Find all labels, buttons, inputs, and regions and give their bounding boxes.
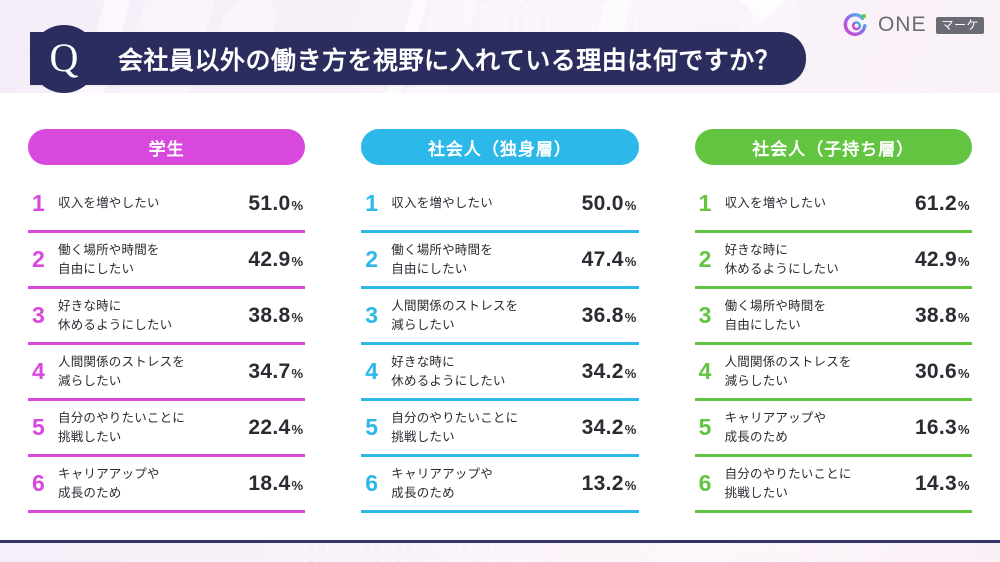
percent-sign: % <box>291 254 303 269</box>
percentage-value: 30.6% <box>915 360 970 384</box>
rank-number: 4 <box>699 360 725 383</box>
page-title: 会社員以外の働き方を視野に入れている理由は何ですか？ <box>118 41 780 77</box>
ranking-row: 2働く場所や時間を自由にしたい42.9% <box>28 233 305 289</box>
rank-number: 1 <box>32 192 58 215</box>
percent-sign: % <box>291 310 303 325</box>
ranking-row: 3働く場所や時間を自由にしたい38.8% <box>695 289 972 345</box>
question-mark-badge: Q <box>30 25 98 93</box>
percentage-number: 16.3 <box>915 416 957 439</box>
percentage-value: 34.2% <box>582 360 637 384</box>
percentage-number: 34.7 <box>248 360 290 383</box>
reason-label: キャリアアップや成長のため <box>391 465 581 501</box>
reason-label: 人間関係のストレスを減らしたい <box>58 353 248 389</box>
percentage-value: 13.2% <box>582 472 637 496</box>
ranking-row: 4好きな時に休めるようにしたい34.2% <box>361 345 638 401</box>
ranking-list: 1収入を増やしたい51.0%2働く場所や時間を自由にしたい42.9%3好きな時に… <box>28 177 305 513</box>
ranking-row: 2働く場所や時間を自由にしたい47.4% <box>361 233 638 289</box>
ranking-row: 6キャリアアップや成長のため18.4% <box>28 457 305 513</box>
percentage-number: 38.8 <box>248 304 290 327</box>
background-chevron-icon <box>740 0 784 22</box>
percent-sign: % <box>291 478 303 493</box>
percent-sign: % <box>625 254 637 269</box>
infographic-slide: ONE マーケ 会社員以外の働き方を視野に入れている理由は何ですか？ Q 学生1… <box>0 0 1000 562</box>
column-title-pill: 学生 <box>28 129 305 165</box>
brand-logo: ONE マーケ <box>840 10 984 40</box>
ranking-row: 4人間関係のストレスを減らしたい30.6% <box>695 345 972 401</box>
ranking-column: 社会人（子持ち層）1収入を増やしたい61.2%2好きな時に休めるようにしたい42… <box>667 129 1000 513</box>
percentage-number: 42.9 <box>915 248 957 271</box>
percentage-number: 61.2 <box>915 192 957 215</box>
percentage-value: 51.0% <box>248 192 303 216</box>
reason-label: 好きな時に休めるようにしたい <box>58 297 248 333</box>
percentage-value: 38.8% <box>248 304 303 328</box>
percentage-number: 51.0 <box>248 192 290 215</box>
percent-sign: % <box>958 310 970 325</box>
percent-sign: % <box>958 422 970 437</box>
percentage-number: 13.2 <box>582 472 624 495</box>
background-dot-pattern <box>880 44 1000 94</box>
rank-number: 5 <box>32 416 58 439</box>
ranking-column: 学生1収入を増やしたい51.0%2働く場所や時間を自由にしたい42.9%3好きな… <box>0 129 333 513</box>
percentage-value: 34.7% <box>248 360 303 384</box>
ranking-columns: 学生1収入を増やしたい51.0%2働く場所や時間を自由にしたい42.9%3好きな… <box>0 93 1000 513</box>
rank-number: 2 <box>699 248 725 271</box>
rank-number: 1 <box>365 192 391 215</box>
column-title-pill: 社会人（子持ち層） <box>695 129 972 165</box>
percent-sign: % <box>625 422 637 437</box>
percent-sign: % <box>958 198 970 213</box>
one-marke-logo-icon <box>840 10 870 40</box>
percentage-number: 38.8 <box>915 304 957 327</box>
rank-number: 5 <box>365 416 391 439</box>
percentage-number: 36.8 <box>582 304 624 327</box>
content-card: 学生1収入を増やしたい51.0%2働く場所や時間を自由にしたい42.9%3好きな… <box>0 93 1000 543</box>
ranking-row: 6キャリアアップや成長のため13.2% <box>361 457 638 513</box>
reason-label: 好きな時に休めるようにしたい <box>725 241 915 277</box>
rank-number: 4 <box>365 360 391 383</box>
logo-wordmark: ONE <box>878 13 927 37</box>
percentage-number: 14.3 <box>915 472 957 495</box>
ranking-row: 6自分のやりたいことに挑戦したい14.3% <box>695 457 972 513</box>
background-dot-pattern <box>640 546 820 562</box>
percent-sign: % <box>291 366 303 381</box>
percentage-value: 36.8% <box>582 304 637 328</box>
ranking-row: 2好きな時に休めるようにしたい42.9% <box>695 233 972 289</box>
percent-sign: % <box>625 478 637 493</box>
percentage-number: 47.4 <box>582 248 624 271</box>
percent-sign: % <box>958 254 970 269</box>
rank-number: 3 <box>699 304 725 327</box>
rank-number: 4 <box>32 360 58 383</box>
ranking-list: 1収入を増やしたい50.0%2働く場所や時間を自由にしたい47.4%3人間関係の… <box>361 177 638 513</box>
rank-number: 2 <box>32 248 58 271</box>
percent-sign: % <box>625 366 637 381</box>
reason-label: 働く場所や時間を自由にしたい <box>58 241 248 277</box>
reason-label: 働く場所や時間を自由にしたい <box>725 297 915 333</box>
percentage-value: 42.9% <box>915 248 970 272</box>
percent-sign: % <box>625 310 637 325</box>
ranking-row: 3好きな時に休めるようにしたい38.8% <box>28 289 305 345</box>
rank-number: 3 <box>365 304 391 327</box>
ranking-row: 3人間関係のストレスを減らしたい36.8% <box>361 289 638 345</box>
ranking-row: 4人間関係のストレスを減らしたい34.7% <box>28 345 305 401</box>
rank-number: 6 <box>32 472 58 495</box>
reason-label: 自分のやりたいことに挑戦したい <box>58 409 248 445</box>
ranking-row: 1収入を増やしたい50.0% <box>361 177 638 233</box>
percentage-value: 50.0% <box>582 192 637 216</box>
rank-number: 6 <box>699 472 725 495</box>
percent-sign: % <box>625 198 637 213</box>
reason-label: 自分のやりたいことに挑戦したい <box>391 409 581 445</box>
percentage-number: 34.2 <box>582 360 624 383</box>
reason-label: 働く場所や時間を自由にしたい <box>391 241 581 277</box>
percentage-value: 22.4% <box>248 416 303 440</box>
percent-sign: % <box>291 422 303 437</box>
reason-label: キャリアアップや成長のため <box>725 409 915 445</box>
percent-sign: % <box>958 366 970 381</box>
rank-number: 2 <box>365 248 391 271</box>
percentage-number: 30.6 <box>915 360 957 383</box>
reason-label: 収入を増やしたい <box>58 194 248 212</box>
reason-label: 収入を増やしたい <box>725 194 915 212</box>
percentage-number: 18.4 <box>248 472 290 495</box>
reason-label: 収入を増やしたい <box>391 194 581 212</box>
rank-number: 5 <box>699 416 725 439</box>
percentage-value: 18.4% <box>248 472 303 496</box>
percentage-number: 22.4 <box>248 416 290 439</box>
percent-sign: % <box>291 198 303 213</box>
percentage-value: 34.2% <box>582 416 637 440</box>
percentage-value: 61.2% <box>915 192 970 216</box>
percentage-value: 16.3% <box>915 416 970 440</box>
q-letter: Q <box>50 38 79 78</box>
percent-sign: % <box>958 478 970 493</box>
question-banner: 会社員以外の働き方を視野に入れている理由は何ですか？ <box>30 32 806 85</box>
ranking-row: 1収入を増やしたい61.2% <box>695 177 972 233</box>
background-dot-pattern <box>300 544 540 562</box>
rank-number: 3 <box>32 304 58 327</box>
reason-label: 自分のやりたいことに挑戦したい <box>725 465 915 501</box>
column-title-pill: 社会人（独身層） <box>361 129 638 165</box>
percentage-number: 50.0 <box>582 192 624 215</box>
ranking-row: 5自分のやりたいことに挑戦したい22.4% <box>28 401 305 457</box>
reason-label: 好きな時に休めるようにしたい <box>391 353 581 389</box>
percentage-number: 34.2 <box>582 416 624 439</box>
rank-number: 6 <box>365 472 391 495</box>
background-bottom-band <box>0 541 1000 562</box>
ranking-list: 1収入を増やしたい61.2%2好きな時に休めるようにしたい42.9%3働く場所や… <box>695 177 972 513</box>
reason-label: キャリアアップや成長のため <box>58 465 248 501</box>
ranking-row: 1収入を増やしたい51.0% <box>28 177 305 233</box>
reason-label: 人間関係のストレスを減らしたい <box>725 353 915 389</box>
ranking-row: 5自分のやりたいことに挑戦したい34.2% <box>361 401 638 457</box>
logo-badge: マーケ <box>936 17 984 34</box>
percentage-value: 14.3% <box>915 472 970 496</box>
percentage-value: 38.8% <box>915 304 970 328</box>
percentage-value: 47.4% <box>582 248 637 272</box>
percentage-number: 42.9 <box>248 248 290 271</box>
reason-label: 人間関係のストレスを減らしたい <box>391 297 581 333</box>
ranking-row: 5キャリアアップや成長のため16.3% <box>695 401 972 457</box>
ranking-column: 社会人（独身層）1収入を増やしたい50.0%2働く場所や時間を自由にしたい47.… <box>333 129 666 513</box>
rank-number: 1 <box>699 192 725 215</box>
percentage-value: 42.9% <box>248 248 303 272</box>
